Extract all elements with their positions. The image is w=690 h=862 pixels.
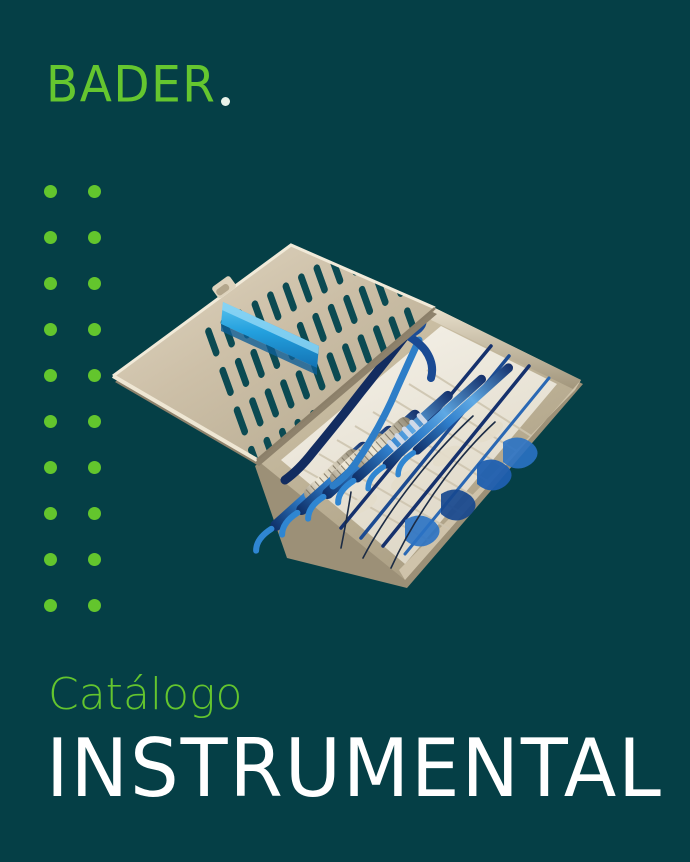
grid-dot-icon <box>88 369 101 382</box>
grid-dot-icon <box>44 277 57 290</box>
brand-name: BADER <box>46 60 216 110</box>
grid-dot-icon <box>88 185 101 198</box>
catalog-kicker: Catálogo <box>48 673 670 717</box>
grid-dot-icon <box>88 553 101 566</box>
catalog-cover-page: BADER <box>0 0 690 862</box>
grid-dot-icon <box>44 461 57 474</box>
grid-dot-icon <box>88 461 101 474</box>
catalog-headline: INSTRUMENTAL <box>46 731 645 807</box>
grid-dot-icon <box>44 415 57 428</box>
grid-dot-icon <box>44 507 57 520</box>
grid-dot-icon <box>88 277 101 290</box>
grid-dot-icon <box>44 231 57 244</box>
grid-dot-icon <box>44 553 57 566</box>
grid-dot-icon <box>44 599 57 612</box>
instrument-cassette-illustration <box>105 228 605 628</box>
grid-dot-icon <box>88 323 101 336</box>
brand-period-dot-icon <box>221 97 230 106</box>
brand-logo: BADER <box>46 63 230 110</box>
grid-dot-icon <box>88 599 101 612</box>
grid-dot-icon <box>88 507 101 520</box>
grid-dot-icon <box>44 369 57 382</box>
grid-dot-icon <box>44 323 57 336</box>
hero-product-image <box>105 228 605 628</box>
grid-dot-icon <box>88 415 101 428</box>
grid-dot-icon <box>88 231 101 244</box>
cover-titles: Catálogo INSTRUMENTAL <box>46 673 670 807</box>
grid-dot-icon <box>44 185 57 198</box>
